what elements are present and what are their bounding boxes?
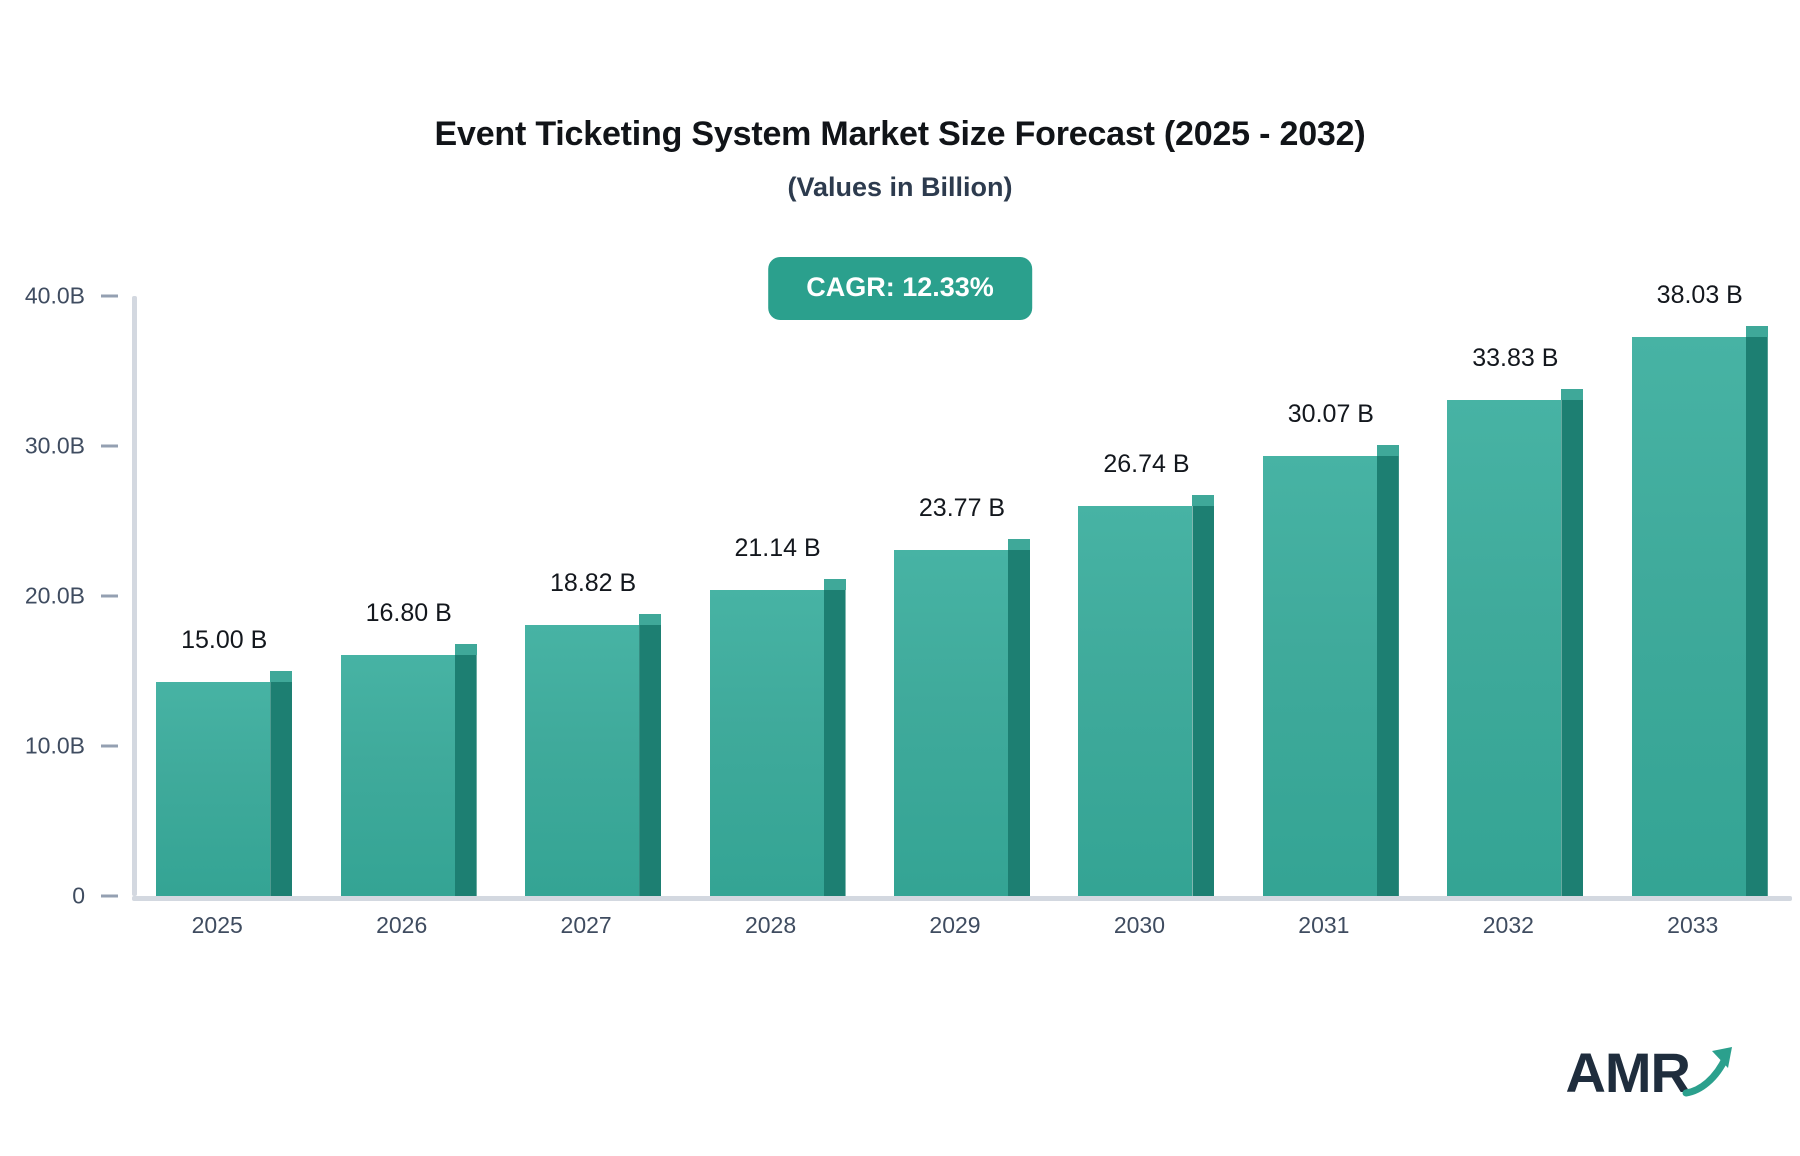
bar-top-face <box>1561 389 1583 400</box>
bar-side-face <box>1561 389 1583 896</box>
bar-front-face <box>156 682 270 896</box>
x-axis-tick-label: 2030 <box>1114 912 1165 939</box>
bar-side-face <box>270 671 292 896</box>
bar-side-face <box>1377 445 1399 896</box>
bar[interactable]: 30.07 B <box>1263 445 1399 896</box>
bar-side-face <box>824 579 846 896</box>
plot-area: 40.0B30.0B20.0B10.0B0 15.00 B16.80 B18.8… <box>132 296 1792 896</box>
bar-front-face <box>894 550 1008 896</box>
bar-top-face <box>1377 445 1399 456</box>
y-axis-tick-label: 0 <box>72 883 85 910</box>
y-axis-tick-mark <box>101 745 118 748</box>
bar[interactable]: 33.83 B <box>1447 389 1583 896</box>
bar[interactable]: 16.80 B <box>341 644 477 896</box>
bar[interactable]: 21.14 B <box>710 579 846 896</box>
x-axis-tick-label: 2025 <box>192 912 243 939</box>
y-axis-tick: 40.0B <box>25 283 132 310</box>
bar-side-face <box>1746 326 1768 896</box>
bar-value-label: 16.80 B <box>366 599 452 628</box>
y-axis-tick: 20.0B <box>25 583 132 610</box>
x-axis-tick-label: 2026 <box>376 912 427 939</box>
bar-front-face <box>710 590 824 896</box>
x-axis-ticks: 202520262027202820292030203120322033 <box>132 912 1792 952</box>
y-axis-tick: 0 <box>72 883 132 910</box>
amr-logo: AMR <box>1565 1031 1742 1101</box>
bar-front-face <box>1447 400 1561 896</box>
bar-value-label: 26.74 B <box>1103 450 1189 479</box>
bar-top-face <box>639 614 661 625</box>
page-title: Event Ticketing System Market Size Forec… <box>0 115 1800 154</box>
bar-top-face <box>1008 539 1030 550</box>
bar[interactable]: 23.77 B <box>894 539 1030 896</box>
x-axis-tick-label: 2027 <box>561 912 612 939</box>
bar-value-label: 15.00 B <box>181 626 267 655</box>
y-axis-tick-mark <box>101 895 118 898</box>
bar-top-face <box>824 579 846 590</box>
bar-top-face <box>270 671 292 682</box>
x-axis-tick-label: 2029 <box>929 912 980 939</box>
bar-front-face <box>341 655 455 896</box>
x-axis-tick-label: 2031 <box>1298 912 1349 939</box>
y-axis-tick: 30.0B <box>25 433 132 460</box>
bar-front-face <box>1078 506 1192 896</box>
bar-value-label: 23.77 B <box>919 494 1005 523</box>
bar-value-label: 18.82 B <box>550 569 636 598</box>
y-axis-tick-mark <box>101 445 118 448</box>
bar-top-face <box>1192 495 1214 506</box>
bar[interactable]: 26.74 B <box>1078 495 1214 896</box>
bar-front-face <box>1263 456 1377 896</box>
y-axis-tick: 10.0B <box>25 733 132 760</box>
chart-subtitle: (Values in Billion) <box>0 172 1800 203</box>
y-axis-tick-label: 20.0B <box>25 583 85 610</box>
y-axis-tick-mark <box>101 295 118 298</box>
growth-arrow-icon <box>1682 1041 1742 1099</box>
y-axis-tick-label: 10.0B <box>25 733 85 760</box>
bar-top-face <box>455 644 477 655</box>
bar-value-label: 33.83 B <box>1472 344 1558 373</box>
bar-side-face <box>1192 495 1214 896</box>
x-axis-line <box>132 896 1792 901</box>
bar-value-label: 38.03 B <box>1657 281 1743 310</box>
x-axis-tick-label: 2028 <box>745 912 796 939</box>
bar-value-label: 21.14 B <box>734 534 820 563</box>
y-axis-tick-mark <box>101 595 118 598</box>
bar-front-face <box>525 625 639 896</box>
amr-logo-text: AMR <box>1565 1045 1690 1101</box>
y-axis-tick-label: 40.0B <box>25 283 85 310</box>
bar[interactable]: 18.82 B <box>525 614 661 896</box>
bar-top-face <box>1746 326 1768 337</box>
bar-side-face <box>455 644 477 896</box>
bar-front-face <box>1632 337 1746 896</box>
x-axis-tick-label: 2032 <box>1483 912 1534 939</box>
x-axis-tick-label: 2033 <box>1667 912 1718 939</box>
bar-value-label: 30.07 B <box>1288 400 1374 429</box>
bar-series: 15.00 B16.80 B18.82 B21.14 B23.77 B26.74… <box>132 296 1792 896</box>
bar-side-face <box>1008 539 1030 896</box>
y-axis-tick-label: 30.0B <box>25 433 85 460</box>
bar[interactable]: 15.00 B <box>156 671 292 896</box>
bar-side-face <box>639 614 661 896</box>
chart-page: Event Ticketing System Market Size Forec… <box>0 0 1800 1156</box>
bar[interactable]: 38.03 B <box>1632 326 1768 896</box>
